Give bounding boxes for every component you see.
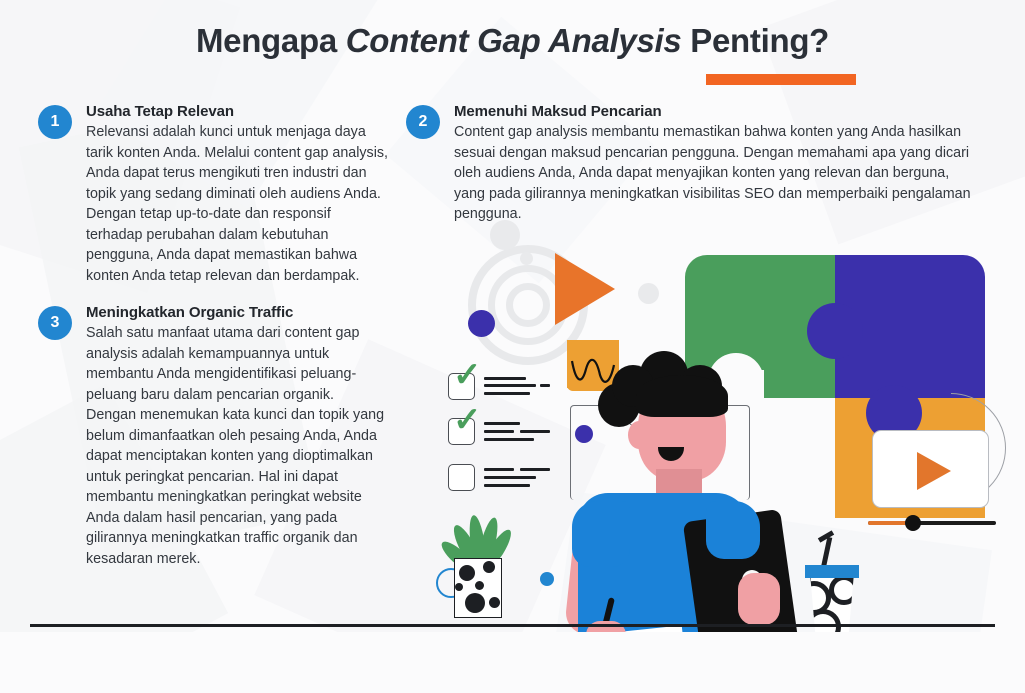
decorative-dot-indigo (468, 310, 495, 337)
checklist-line (520, 468, 550, 471)
video-play-icon[interactable] (917, 452, 951, 490)
point-body-3: Meningkatkan Organic Traffic Salah satu … (38, 304, 388, 569)
right-column: 2 Memenuhi Maksud Pencarian Content gap … (406, 103, 981, 243)
checklist-line (520, 430, 550, 433)
checklist-line (484, 377, 526, 380)
title-part-1: Mengapa (196, 22, 346, 59)
cup-pattern (829, 575, 854, 605)
title-underline (706, 74, 856, 85)
play-triangle-icon (555, 253, 615, 325)
pot-dot (459, 565, 475, 581)
checklist-line (484, 476, 536, 479)
potted-plant-icon (454, 558, 502, 618)
pot-dot (475, 581, 484, 590)
page-header: Mengapa Content Gap Analysis Penting? (0, 22, 1025, 60)
pot-dot (455, 583, 463, 591)
decorative-dot (490, 220, 520, 250)
point-title-1: Usaha Tetap Relevan (86, 103, 388, 120)
checklist-line (484, 484, 530, 487)
checklist-line (484, 468, 514, 471)
drink-cup-lid (805, 565, 859, 578)
character-hair-fringe (636, 375, 728, 417)
check-icon: ✓ (453, 358, 482, 392)
pot-dot (465, 593, 485, 613)
character-right-hand (738, 573, 780, 625)
point-badge-3: 3 (38, 306, 72, 340)
decorative-dot (638, 283, 659, 304)
checklist-line (484, 384, 536, 387)
video-scrubber-handle[interactable] (905, 515, 921, 531)
footer-divider (30, 624, 995, 627)
point-body-2: Memenuhi Maksud Pencarian Content gap an… (406, 103, 981, 225)
point-text-2: Content gap analysis membantu memastikan… (454, 122, 981, 225)
point-badge-2: 2 (406, 105, 440, 139)
pot-dot (483, 561, 495, 573)
character-left-sleeve (572, 501, 630, 567)
point-text-1: Relevansi adalah kunci untuk menjaga day… (86, 122, 388, 286)
checklist-line (484, 422, 520, 425)
decorative-dot-blue (540, 572, 554, 586)
cup-pattern (810, 609, 841, 633)
decorative-dot (520, 252, 533, 265)
point-badge-1: 1 (38, 105, 72, 139)
infographic-page: Mengapa Content Gap Analysis Penting? 1 … (0, 0, 1025, 693)
point-block-1: 1 Usaha Tetap Relevan Relevansi adalah k… (38, 103, 388, 286)
point-text-3: Salah satu manfaat utama dari content ga… (86, 323, 388, 569)
point-block-2: 2 Memenuhi Maksud Pencarian Content gap … (406, 103, 981, 225)
checklist-line (484, 438, 534, 441)
point-title-3: Meningkatkan Organic Traffic (86, 304, 388, 321)
character-right-sleeve (706, 501, 760, 559)
target-ring-inner (506, 283, 550, 327)
check-icon: ✓ (453, 403, 482, 437)
point-title-2: Memenuhi Maksud Pencarian (454, 103, 981, 120)
illustration: ✓ ✓ (400, 225, 1025, 625)
checklist-line (484, 430, 514, 433)
page-footer: whello.id Pastikan untuk meluangkan wakt… (0, 632, 1025, 693)
pot-dot (489, 597, 500, 608)
left-column: 1 Usaha Tetap Relevan Relevansi adalah k… (38, 103, 388, 587)
checklist-line (484, 392, 530, 395)
checklist-line (540, 384, 550, 387)
title-part-2: Penting? (681, 22, 829, 59)
puzzle-knob (807, 303, 863, 359)
page-title: Mengapa Content Gap Analysis Penting? (196, 22, 829, 60)
title-italic-part: Content Gap Analysis (346, 22, 682, 59)
video-player-card[interactable] (872, 430, 989, 508)
point-body-1: Usaha Tetap Relevan Relevansi adalah kun… (38, 103, 388, 286)
point-block-3: 3 Meningkatkan Organic Traffic Salah sat… (38, 304, 388, 569)
checklist-checkbox-3[interactable] (448, 464, 475, 491)
